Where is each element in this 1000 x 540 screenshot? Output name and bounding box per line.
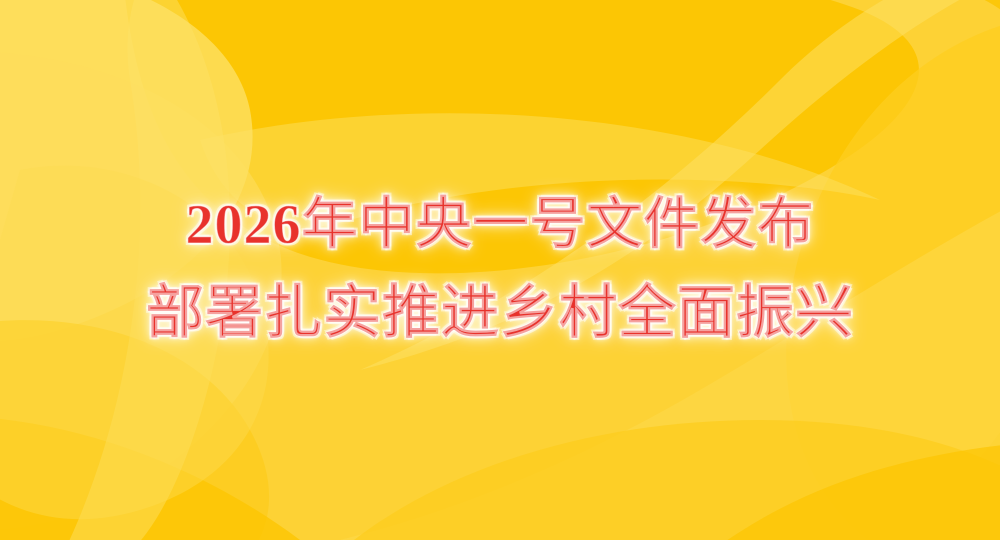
headline-block: 2026年中央一号文件发布 部署扎实推进乡村全面振兴	[0, 0, 1000, 540]
promo-banner: 2026年中央一号文件发布 部署扎实推进乡村全面振兴	[0, 0, 1000, 540]
headline-line-1: 2026年中央一号文件发布	[186, 194, 815, 257]
headline-line-2: 部署扎实推进乡村全面振兴	[146, 281, 854, 346]
